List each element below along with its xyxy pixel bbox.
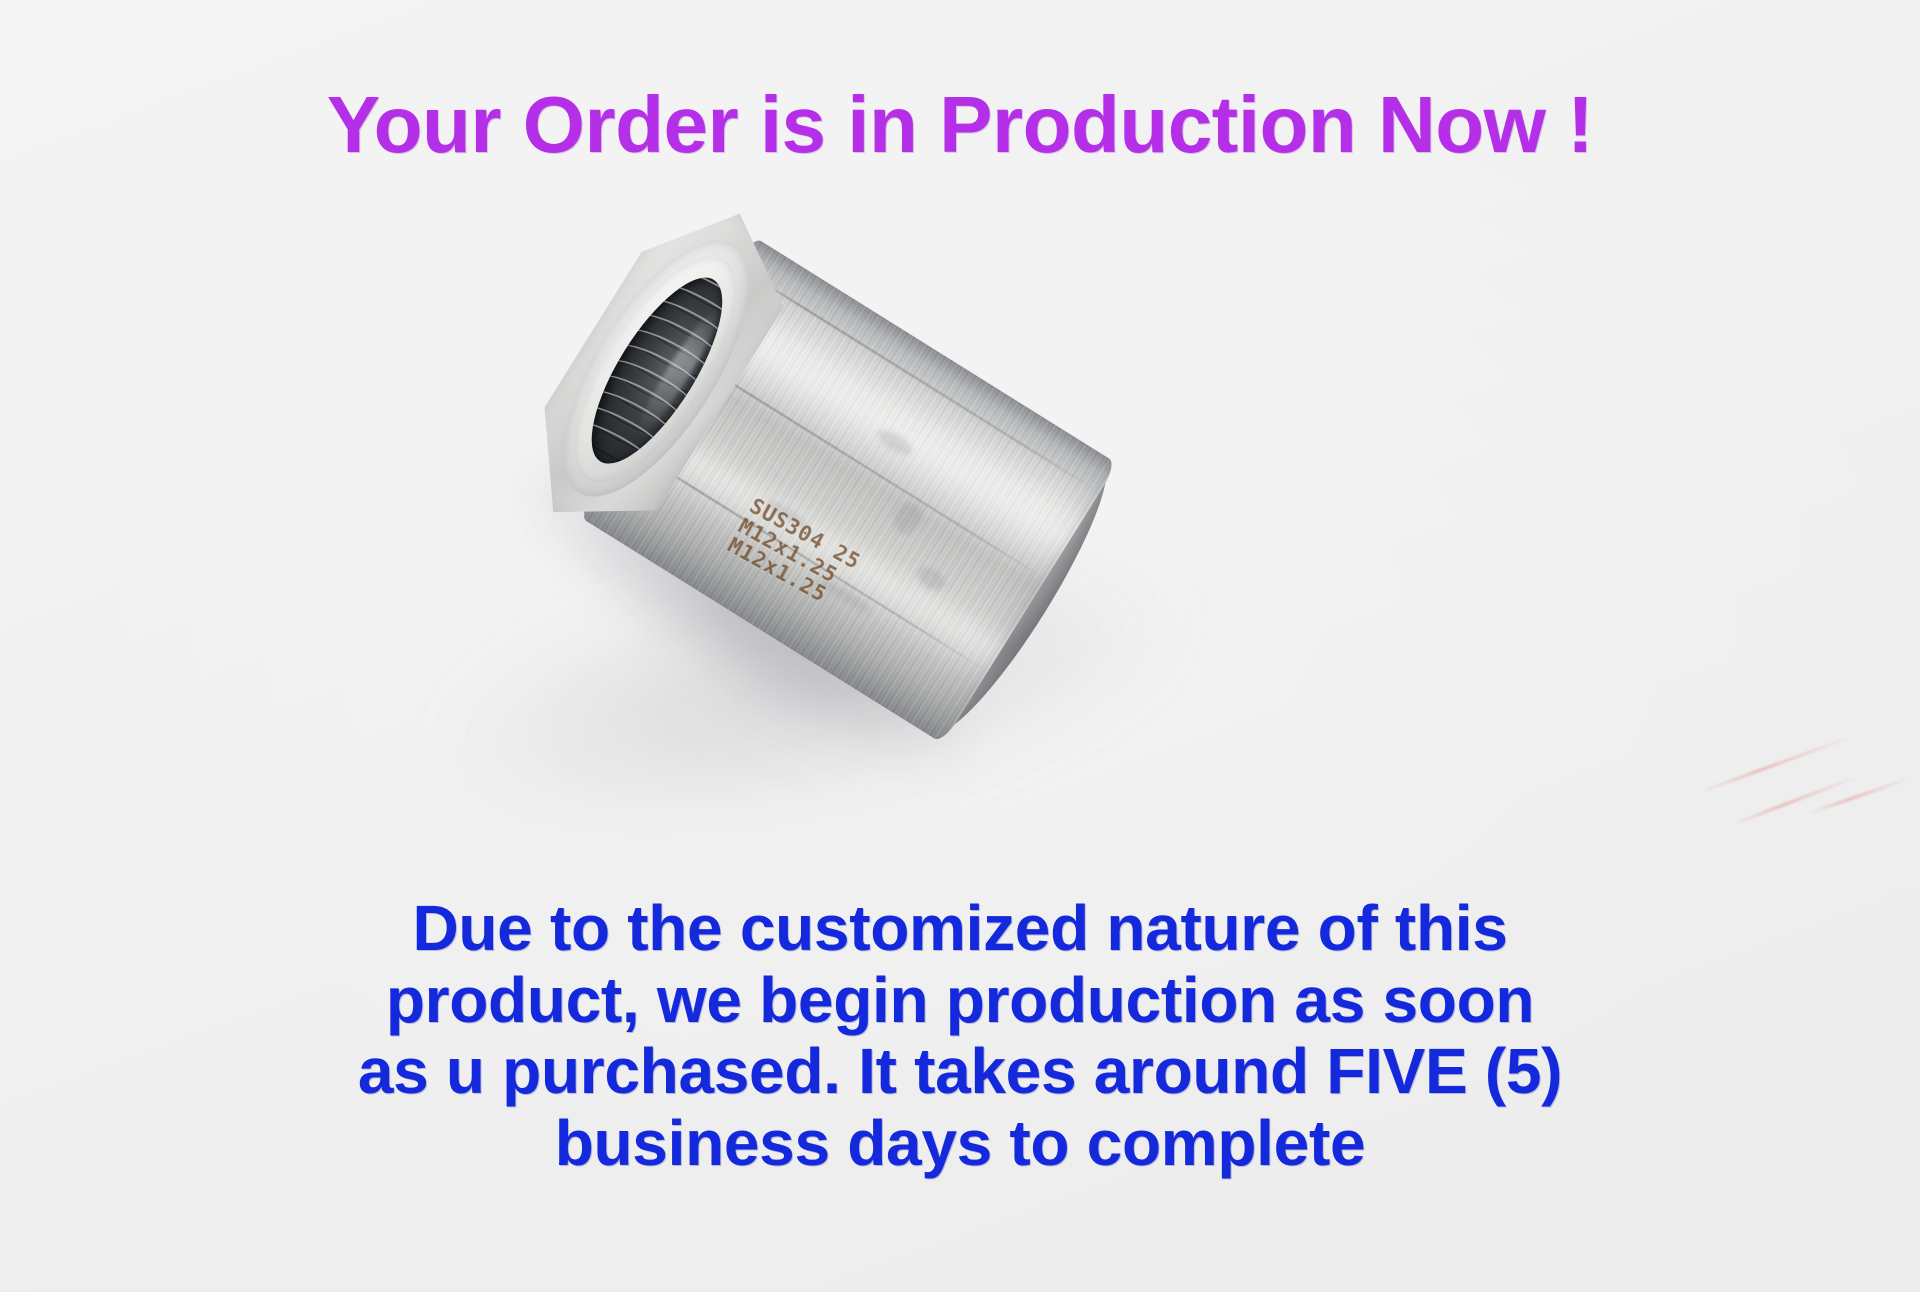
production-notice: Due to the customized nature of this pro… — [0, 893, 1920, 1180]
notice-line: business days to complete — [0, 1108, 1920, 1180]
product-photo: SUS304 25 M12x1.25 M12x1.25 — [505, 228, 1145, 768]
notice-line: product, we begin production as soon — [0, 965, 1920, 1037]
background-scratch-marks — [1690, 720, 1920, 870]
page-title: Your Order is in Production Now ! — [0, 84, 1920, 166]
promo-banner: Your Order is in Production Now ! — [0, 0, 1920, 1292]
notice-line: Due to the customized nature of this — [0, 893, 1920, 965]
notice-line: as u purchased. It takes around FIVE (5) — [0, 1036, 1920, 1108]
